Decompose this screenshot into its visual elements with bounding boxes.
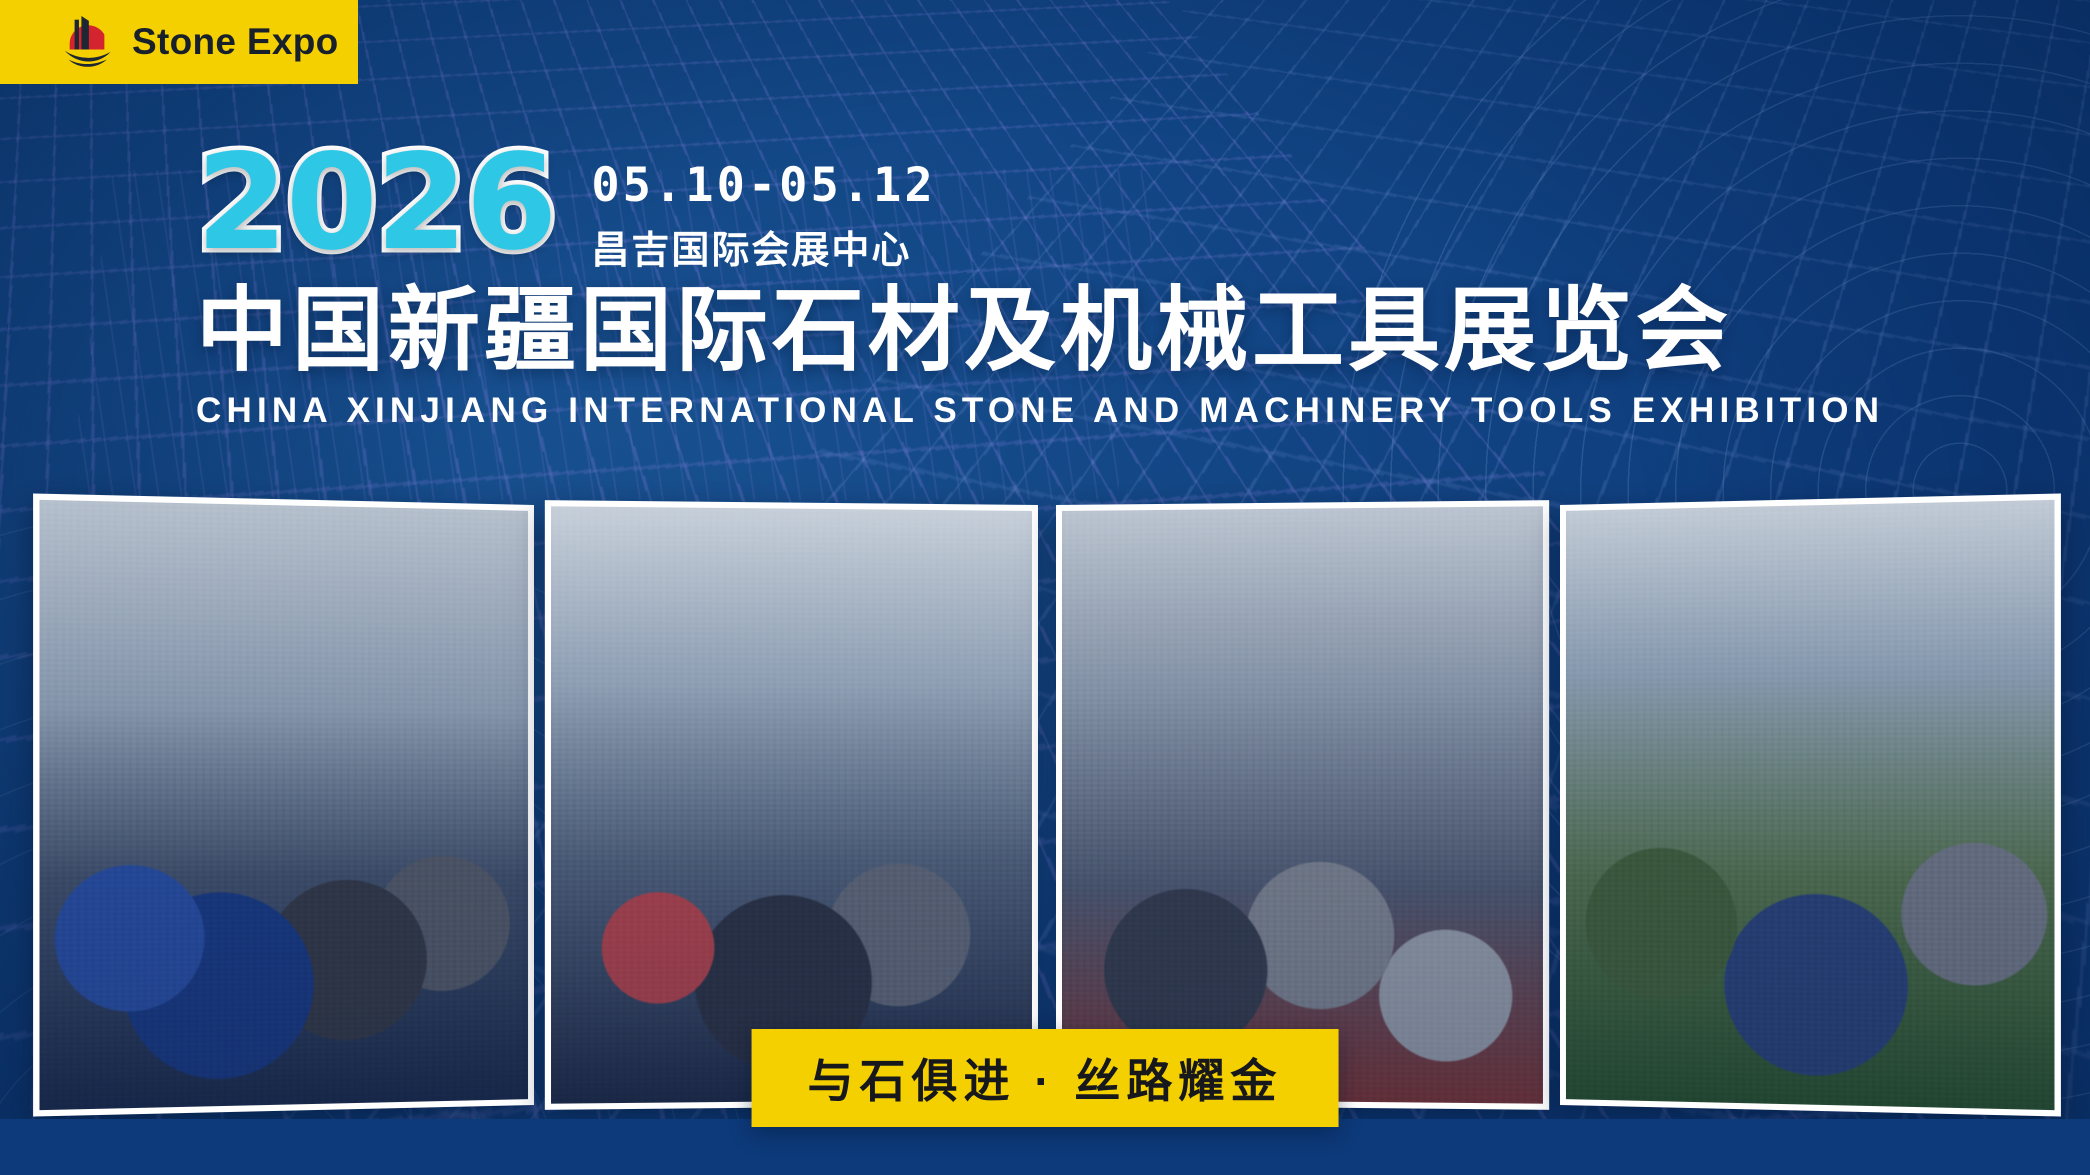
photo-shade-overlay	[551, 506, 1032, 1103]
gallery-photo-4	[1560, 493, 2061, 1116]
slogan-text: 与石俱进 · 丝路耀金	[808, 1055, 1283, 1107]
stone-expo-sail-logo-icon	[56, 11, 118, 73]
gallery-photo-2	[545, 500, 1038, 1110]
year-and-details-row: 2026 05.10-05.12 昌吉国际会展中心	[196, 140, 1916, 274]
gallery-photo-1	[33, 493, 534, 1116]
event-details: 05.10-05.12 昌吉国际会展中心	[591, 140, 935, 274]
event-title-chinese: 中国新疆国际石材及机械工具展览会	[196, 282, 1916, 381]
brand-logo-tab[interactable]: Stone Expo	[0, 0, 358, 84]
gallery-photo-1-image	[39, 500, 528, 1110]
photo-shade-overlay	[1062, 506, 1543, 1103]
slogan-ribbon: 与石俱进 · 丝路耀金	[752, 1029, 1339, 1127]
photo-gallery-strip	[48, 505, 2046, 1105]
hero-headline-block: 2026 05.10-05.12 昌吉国际会展中心 中国新疆国际石材及机械工具展…	[196, 140, 1916, 431]
gallery-photo-3-image	[1062, 506, 1543, 1103]
brand-logo-text: Stone Expo	[132, 21, 339, 63]
photo-shade-overlay	[1566, 500, 2055, 1110]
bottom-color-band	[0, 1119, 2090, 1175]
event-venue: 昌吉国际会展中心	[591, 219, 935, 274]
photo-shade-overlay	[39, 500, 528, 1110]
promo-banner: Stone Expo 2026 05.10-05.12 昌吉国际会展中心 中国新…	[0, 0, 2090, 1175]
gallery-photo-2-image	[551, 506, 1032, 1103]
gallery-photo-3	[1056, 500, 1549, 1110]
event-year: 2026	[196, 140, 555, 267]
event-title-english: CHINA XINJIANG INTERNATIONAL STONE AND M…	[196, 391, 1916, 431]
gallery-photo-4-image	[1566, 500, 2055, 1110]
event-date-range: 05.10-05.12	[591, 158, 935, 213]
